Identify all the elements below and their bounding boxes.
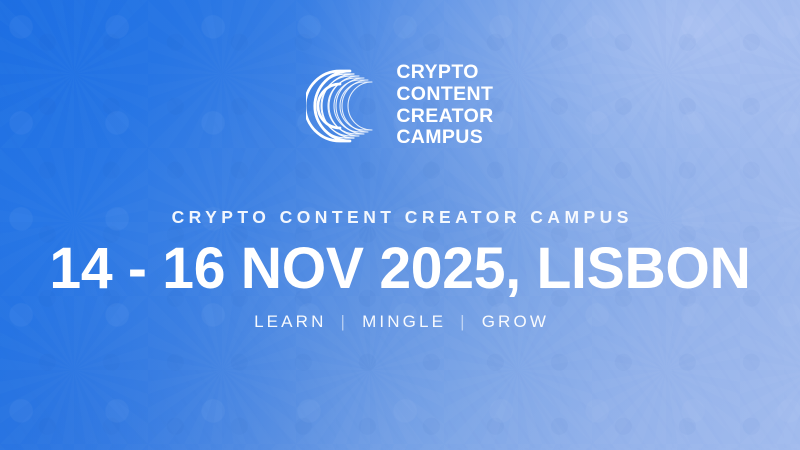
tagline-item-learn: LEARN bbox=[251, 312, 327, 332]
event-tagline: LEARN | MINGLE | GROW bbox=[251, 312, 549, 332]
wordmark-line-4: CAMPUS bbox=[396, 127, 493, 149]
wordmark-line-3: CREATOR bbox=[396, 106, 493, 128]
event-name-eyebrow: CRYPTO CONTENT CREATOR CAMPUS bbox=[167, 207, 633, 228]
brand-logo-lockup: CRYPTO CONTENT CREATOR CAMPUS bbox=[306, 62, 493, 149]
tagline-separator-2: | bbox=[460, 312, 464, 332]
tagline-item-mingle: MINGLE bbox=[359, 312, 446, 332]
banner-content: CRYPTO CONTENT CREATOR CAMPUS CRYPTO CON… bbox=[0, 0, 800, 450]
tagline-separator-1: | bbox=[341, 312, 345, 332]
event-dates-location-headline: 14 - 16 NOV 2025, LISBON bbox=[49, 240, 750, 298]
event-banner: CRYPTO CONTENT CREATOR CAMPUS CRYPTO CON… bbox=[0, 0, 800, 450]
wordmark-line-1: CRYPTO bbox=[396, 62, 493, 84]
brand-wordmark: CRYPTO CONTENT CREATOR CAMPUS bbox=[396, 62, 493, 149]
layered-c-monogram-icon bbox=[306, 65, 380, 147]
tagline-item-grow: GROW bbox=[479, 312, 550, 332]
wordmark-line-2: CONTENT bbox=[396, 84, 493, 106]
